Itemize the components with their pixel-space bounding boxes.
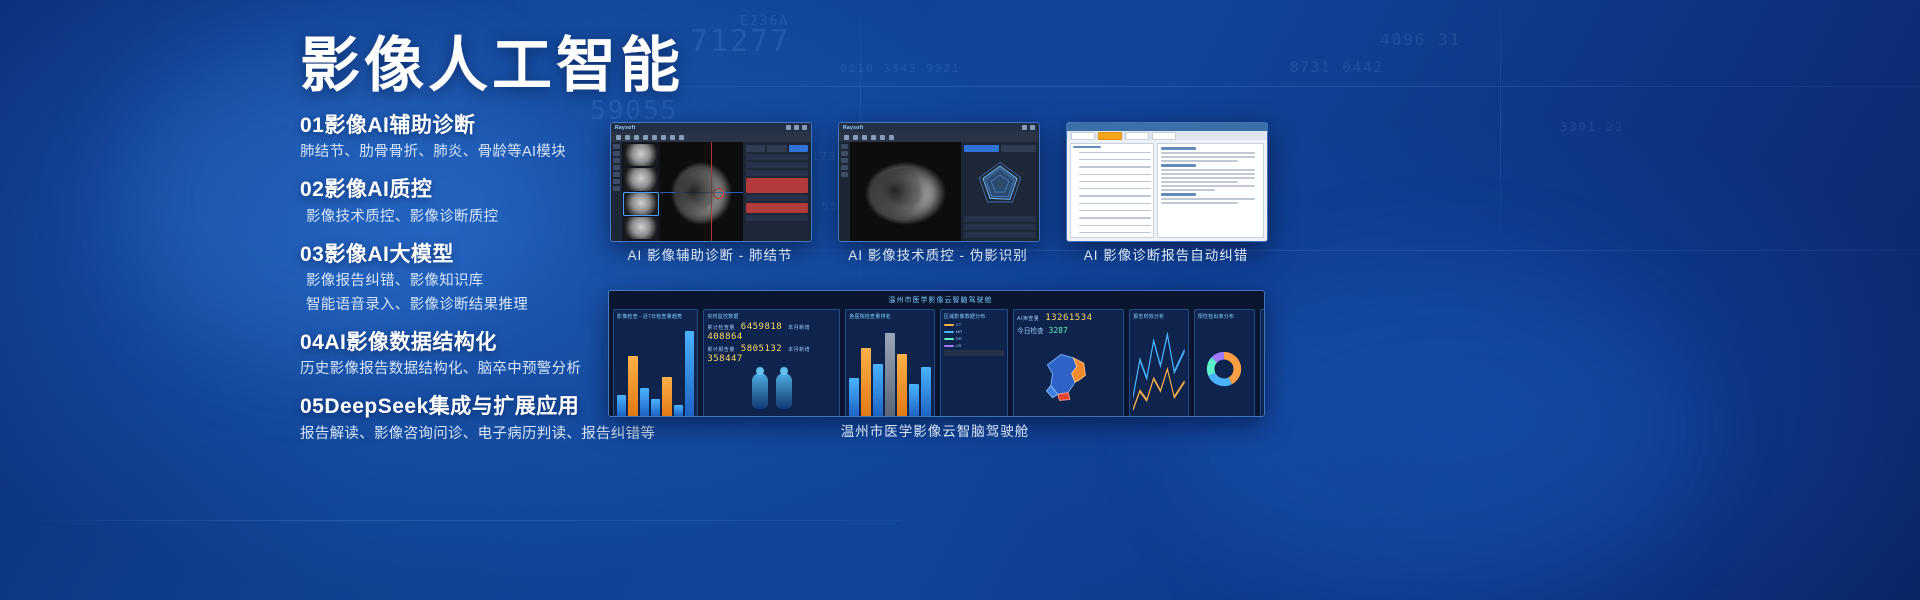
- crosshair-vertical: [711, 142, 712, 241]
- viewer-toolbar-1[interactable]: [611, 132, 811, 142]
- rail-item-icon[interactable]: [841, 172, 848, 177]
- kpi-label: 累计报告量: [707, 347, 735, 353]
- thumbnail-item[interactable]: [624, 168, 658, 190]
- tool-artifact-icon[interactable]: [889, 135, 894, 140]
- report-tab-active[interactable]: [1098, 132, 1122, 140]
- caption-ai-quality-control: AI 影像技术质控 - 伪影识别: [828, 244, 1048, 264]
- dashboard-card-trend[interactable]: 影像检查 - 近7日检查量趋势: [613, 309, 698, 417]
- rail-item-icon[interactable]: [841, 165, 848, 170]
- kpi-label: 累计检查量: [707, 325, 735, 331]
- report-section-header: [1161, 164, 1197, 167]
- panel-tab-all[interactable]: [746, 145, 765, 152]
- report-tab[interactable]: [1152, 132, 1176, 140]
- caption-cloud-dashboard: 温州市医学影像云智脑驾驶舱: [725, 420, 1145, 440]
- dashboard-card-hospital-rank[interactable]: 各医院检查量排名: [845, 309, 935, 417]
- legend-row: DR: [944, 336, 1004, 341]
- kpi-total-reports: 累计报告量 5805132 本月新增 358447: [707, 344, 836, 364]
- banner-stage: E236A 71277 59055 26722 4096 31 8731 044…: [0, 0, 1920, 600]
- region-row[interactable]: [944, 350, 1004, 356]
- qc-metric-row[interactable]: [964, 224, 1036, 230]
- tool-3d-icon[interactable]: [670, 135, 675, 140]
- kpi-today-exams: 今日检查 3287: [1017, 325, 1120, 335]
- kpi-value: 13261534: [1045, 313, 1092, 323]
- rail-item-icon[interactable]: [613, 158, 620, 163]
- series-thumbnails-1[interactable]: [622, 142, 660, 241]
- thumbnail-item[interactable]: [624, 217, 658, 239]
- tree-node[interactable]: [1079, 225, 1151, 226]
- rail-item-icon[interactable]: [613, 165, 620, 170]
- card-title: 报告时效分析: [1133, 313, 1185, 320]
- finding-row[interactable]: [746, 195, 808, 201]
- qc-panel[interactable]: [961, 142, 1039, 241]
- report-text-line: [1161, 177, 1255, 179]
- finding-row[interactable]: [746, 162, 808, 168]
- rail-item-icon[interactable]: [841, 158, 848, 163]
- report-editor[interactable]: [1157, 143, 1264, 238]
- tree-node[interactable]: [1079, 166, 1151, 167]
- human-silhouette-icon: [752, 373, 768, 409]
- screenshot-cloud-dashboard[interactable]: 温州市医学影像云智脑驾驶舱 影像检查 - 近7日检查量趋势 实时监控数据 累计检…: [608, 290, 1265, 417]
- dashboard-card-equipment[interactable]: 设备利用率监控: [1260, 309, 1265, 417]
- report-tab[interactable]: [1125, 132, 1149, 140]
- qc-tab-diagnostic[interactable]: [1001, 145, 1036, 152]
- qc-tab-row[interactable]: [964, 145, 1036, 152]
- nodule-marker: [713, 188, 724, 199]
- bar-chart-trend: [617, 322, 694, 416]
- kpi-value: 5805132: [741, 344, 782, 354]
- minimize-icon-1[interactable]: [786, 125, 791, 130]
- minimize-icon-2[interactable]: [1022, 125, 1027, 130]
- report-app: [1067, 123, 1267, 241]
- dashboard-row: 影像检查 - 近7日检查量趋势 实时监控数据 累计检查量 6459818 本月新…: [613, 309, 1265, 417]
- legend-label: MR: [956, 329, 962, 334]
- kpi-value: 3287: [1049, 326, 1068, 335]
- caption-report-correction: AI 影像诊断报告自动纠错: [1056, 244, 1276, 264]
- region-map[interactable]: [1017, 337, 1120, 416]
- line-chart-timeliness: [1133, 322, 1185, 416]
- legend-row: US: [944, 343, 1004, 348]
- report-text-line: [1161, 160, 1239, 162]
- tree-node[interactable]: [1079, 232, 1151, 233]
- kpi-delta-label: 本月新增: [788, 347, 810, 353]
- caption-ai-diagnosis: AI 影像辅助诊断 - 肺结节: [600, 244, 820, 264]
- tool-zoom-icon[interactable]: [625, 135, 630, 140]
- tool-pan-icon[interactable]: [844, 135, 849, 140]
- report-text-line: [1161, 169, 1255, 171]
- viewport-2[interactable]: [850, 142, 961, 241]
- report-text-line: [1161, 152, 1255, 154]
- report-tabbar[interactable]: [1067, 131, 1267, 140]
- legend-label: US: [956, 343, 962, 348]
- dashboard-card-donut[interactable]: 阳性检出率分布: [1194, 309, 1255, 417]
- report-text-line: [1161, 181, 1239, 183]
- screenshot-report-correction[interactable]: [1066, 122, 1268, 242]
- maximize-icon-1[interactable]: [794, 125, 799, 130]
- kpi-delta: 358447: [707, 354, 743, 364]
- legend-row: MR: [944, 329, 1004, 334]
- viewer-body-2: [839, 142, 1039, 241]
- human-silhouette-icon: [776, 373, 792, 409]
- ct-viewer-2: Raysoft: [839, 123, 1039, 241]
- bg-digits-10: 3301 22: [1560, 120, 1625, 134]
- bg-line-1: [520, 86, 1920, 87]
- kpi-value: 6459818: [741, 322, 782, 332]
- viewport-1[interactable]: [660, 142, 743, 241]
- report-patient-header: [1161, 147, 1197, 150]
- worklist-header: [1073, 146, 1101, 148]
- tool-measure-icon[interactable]: [643, 135, 648, 140]
- report-text-line: [1161, 198, 1255, 200]
- tool-ai-icon[interactable]: [679, 135, 684, 140]
- viewer-sidebar-2[interactable]: [839, 142, 850, 241]
- rail-item-icon[interactable]: [613, 179, 620, 184]
- report-body: [1067, 140, 1267, 241]
- tool-measure-icon[interactable]: [871, 135, 876, 140]
- feature-desc-03-line1: 影像报告纠错、影像知识库: [306, 271, 730, 292]
- report-titlebar: [1067, 123, 1267, 131]
- tool-layout-icon[interactable]: [661, 135, 666, 140]
- kpi-ai-screened: AI筛查量 13261534: [1017, 313, 1120, 323]
- screenshot-ai-diagnosis[interactable]: Raysoft: [610, 122, 812, 242]
- report-text-line: [1161, 156, 1255, 158]
- crosshair-horizontal: [660, 192, 743, 193]
- close-icon-1[interactable]: [802, 125, 807, 130]
- feature-desc-05-line1: 报告解读、影像咨询问诊、电子病历判读、报告纠错等: [300, 424, 730, 445]
- tree-node[interactable]: [1079, 159, 1151, 160]
- bg-digits-6: 8731 0442: [1290, 60, 1384, 76]
- body-visualization: [707, 366, 836, 416]
- panel-tab-report[interactable]: [789, 145, 808, 152]
- finding-row[interactable]: [746, 154, 808, 160]
- report-worklist-tree[interactable]: [1070, 143, 1154, 238]
- card-title: 各医院检查量排名: [849, 313, 931, 320]
- qc-metric-row[interactable]: [964, 216, 1036, 222]
- kpi-total-exams: 累计检查量 6459818 本月新增 408864: [707, 322, 836, 342]
- rail-item-icon[interactable]: [613, 186, 620, 191]
- viewer-brand-1: Raysoft: [615, 125, 635, 131]
- ai-results-panel-1[interactable]: [743, 142, 811, 241]
- report-text-line: [1161, 189, 1216, 191]
- pie-chart-positive-rate: [1198, 322, 1251, 416]
- bg-digits-7: 0110 3345 9921: [840, 62, 961, 75]
- finding-row-highlighted[interactable]: [746, 203, 808, 213]
- tool-window-icon[interactable]: [634, 135, 639, 140]
- thumbnail-item[interactable]: [624, 144, 658, 166]
- viewer-toolbar-2[interactable]: [839, 132, 1039, 142]
- rail-item-icon[interactable]: [841, 151, 848, 156]
- viewer-titlebar-1: Raysoft: [611, 123, 811, 132]
- tool-zoom-icon[interactable]: [853, 135, 858, 140]
- tree-node[interactable]: [1079, 217, 1151, 218]
- report-text-line: [1161, 202, 1239, 204]
- ct-image-axial[interactable]: [660, 142, 743, 241]
- kpi-label: 今日检查: [1017, 327, 1044, 335]
- finding-row[interactable]: [746, 170, 808, 176]
- bar-chart-hospitals: [849, 322, 931, 416]
- tree-node[interactable]: [1079, 210, 1151, 211]
- tree-node[interactable]: [1079, 181, 1151, 182]
- card-title: 实时监控数据: [707, 313, 836, 320]
- dashboard-card-map[interactable]: AI筛查量 13261534 今日检查 3287: [1013, 309, 1124, 417]
- legend-label: CT: [956, 322, 961, 327]
- legend-label: DR: [956, 336, 962, 341]
- ct-image-chest[interactable]: [850, 142, 961, 241]
- dashboard-card-kpi[interactable]: 实时监控数据 累计检查量 6459818 本月新增 408864 累计报告量 5…: [703, 309, 840, 417]
- ct-viewer-1: Raysoft: [611, 123, 811, 241]
- report-tab[interactable]: [1071, 132, 1095, 140]
- rail-item-icon[interactable]: [613, 151, 620, 156]
- kpi-delta-label: 本月新增: [788, 325, 810, 331]
- dashboard: 温州市医学影像云智脑驾驶舱 影像检查 - 近7日检查量趋势 实时监控数据 累计检…: [609, 291, 1265, 417]
- close-icon-2[interactable]: [1030, 125, 1035, 130]
- dashboard-title: 温州市医学影像云智脑驾驶舱: [613, 295, 1265, 305]
- qc-radar-chart: [964, 154, 1036, 214]
- bg-vline-2: [1500, 0, 1501, 240]
- panel-button-row[interactable]: [746, 145, 808, 152]
- screenshot-ai-quality-control[interactable]: Raysoft: [838, 122, 1040, 242]
- dashboard-card-region-list[interactable]: 区域影像数据分布 CT MR DR US: [940, 309, 1008, 417]
- rail-item-icon[interactable]: [841, 144, 848, 149]
- thumbnail-item[interactable]: [624, 193, 658, 215]
- viewer-body-1: [611, 142, 811, 241]
- bg-digits-2: 71277: [690, 24, 790, 59]
- card-title: 影像检查 - 近7日检查量趋势: [617, 313, 694, 320]
- tool-qc-icon[interactable]: [880, 135, 885, 140]
- kpi-label: AI筛查量: [1017, 316, 1039, 322]
- page-title: 影像人工智能: [300, 34, 684, 97]
- tool-pan-icon[interactable]: [616, 135, 621, 140]
- rail-item-icon[interactable]: [613, 144, 620, 149]
- panel-tab-ai[interactable]: [767, 145, 786, 152]
- card-title: 阳性检出率分布: [1198, 313, 1251, 320]
- viewer-brand-2: Raysoft: [843, 125, 863, 131]
- tree-node[interactable]: [1079, 195, 1151, 196]
- bg-digits-5: 4096 31: [1380, 30, 1461, 49]
- bg-line-3: [0, 520, 900, 521]
- legend-row: CT: [944, 322, 1004, 327]
- finding-row-highlighted[interactable]: [746, 178, 808, 193]
- qc-metric-row[interactable]: [964, 232, 1036, 238]
- tree-node[interactable]: [1079, 152, 1151, 153]
- viewer-titlebar-2: Raysoft: [839, 123, 1039, 132]
- tree-node[interactable]: [1079, 174, 1151, 175]
- qc-tab-technical[interactable]: [964, 145, 999, 152]
- kpi-delta: 408864: [707, 332, 743, 342]
- rail-item-icon[interactable]: [613, 172, 620, 177]
- report-text-line: [1161, 173, 1255, 175]
- dashboard-card-timeliness[interactable]: 报告时效分析: [1129, 309, 1189, 417]
- tool-window-icon[interactable]: [862, 135, 867, 140]
- tree-node[interactable]: [1079, 188, 1151, 189]
- report-conclusion-header: [1161, 193, 1197, 196]
- viewer-sidebar-1[interactable]: [611, 142, 622, 241]
- tool-annotate-icon[interactable]: [652, 135, 657, 140]
- report-text-line: [1161, 185, 1255, 187]
- tree-node[interactable]: [1079, 203, 1151, 204]
- finding-row[interactable]: [746, 215, 808, 221]
- card-title: 区域影像数据分布: [944, 313, 1004, 320]
